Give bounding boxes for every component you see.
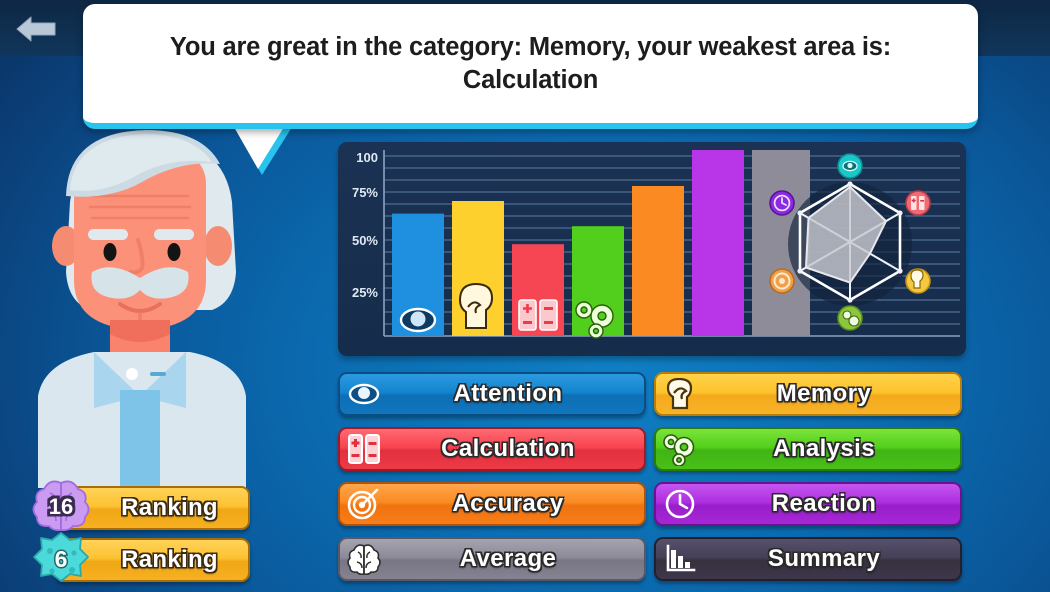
radar-node-analysis	[838, 306, 862, 330]
stats-chart-panel: 100 75% 50% 25%	[338, 142, 966, 356]
svg-text:75%: 75%	[352, 185, 378, 200]
button-label: Reaction	[704, 490, 960, 518]
back-button[interactable]	[10, 8, 64, 50]
radar-node-calculation	[906, 191, 930, 215]
button-calculation[interactable]: Calculation	[338, 427, 646, 471]
button-label: Attention	[388, 380, 644, 408]
speech-bubble: You are great in the category: Memory, y…	[83, 4, 978, 129]
button-summary[interactable]: Summary	[654, 537, 962, 581]
button-label: Analysis	[704, 435, 960, 463]
radar-node-reaction	[770, 191, 794, 215]
button-label: Average	[388, 545, 644, 573]
target-icon	[340, 482, 388, 526]
clock-icon	[656, 482, 704, 526]
button-label: Summary	[704, 545, 960, 573]
chart-svg: 100 75% 50% 25%	[338, 142, 966, 356]
button-analysis[interactable]: Analysis	[654, 427, 962, 471]
avatar	[22, 128, 290, 488]
radar-node-attention	[838, 154, 862, 178]
bubble-tail	[232, 127, 294, 177]
button-average[interactable]: Average	[338, 537, 646, 581]
brain-icon	[340, 537, 388, 581]
bar-chart-icon	[656, 537, 704, 581]
button-memory[interactable]: Memory	[654, 372, 962, 416]
gears-icon	[656, 427, 704, 471]
button-label: Calculation	[388, 435, 644, 463]
ranking-button-amoeba[interactable]: Ranking	[55, 538, 250, 582]
bar-icon-eye	[401, 309, 435, 331]
speech-bubble-text: You are great in the category: Memory, y…	[83, 31, 978, 96]
button-label: Memory	[704, 380, 960, 408]
app-root: You are great in the category: Memory, y…	[0, 0, 1050, 592]
button-accuracy[interactable]: Accuracy	[338, 482, 646, 526]
button-attention[interactable]: Attention	[338, 372, 646, 416]
svg-text:100: 100	[356, 150, 378, 165]
svg-text:50%: 50%	[352, 233, 378, 248]
ranking-button-brain[interactable]: Ranking	[55, 486, 250, 530]
radar-node-memory	[906, 269, 930, 293]
radar-node-accuracy	[770, 269, 794, 293]
bar-reaction	[692, 150, 744, 336]
svg-text:25%: 25%	[352, 285, 378, 300]
ranking-label: Ranking	[57, 546, 248, 574]
head-memory-icon	[656, 372, 704, 416]
back-arrow-icon	[15, 14, 59, 44]
calculator-icon	[340, 427, 388, 471]
button-label: Accuracy	[388, 490, 644, 518]
button-reaction[interactable]: Reaction	[654, 482, 962, 526]
bar-accuracy	[632, 186, 684, 336]
eye-icon	[340, 372, 388, 416]
ranking-label: Ranking	[57, 494, 248, 522]
